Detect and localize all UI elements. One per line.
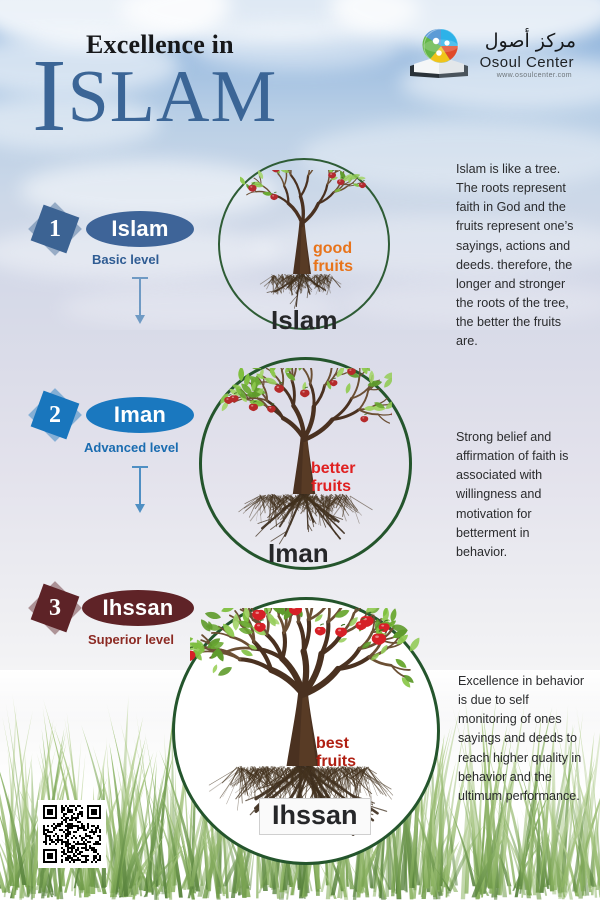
step-number-2: 2 [32, 392, 78, 438]
step-arrow-2 [139, 467, 141, 505]
title-islam-rest: SLAM [68, 56, 278, 138]
step-pill-ihssan[interactable]: Ihssan [82, 590, 194, 626]
step-pill-islam[interactable]: Islam [86, 211, 194, 247]
description-islam: Islam is like a tree. The roots represen… [456, 160, 584, 351]
step-pill-label-2: Iman [114, 402, 166, 428]
osoul-center-logo[interactable]: مركز أصول Osoul Center www.osoulcenter.c… [412, 24, 582, 86]
description-ihssan: Excellence in behavior is due to self mo… [458, 672, 586, 806]
qr-code[interactable] [38, 800, 106, 868]
tree-label-ihssan: Ihssan [259, 798, 371, 835]
step-number-1: 1 [32, 206, 78, 252]
globe-book-icon [406, 26, 476, 84]
poster-root: Excellence in ISLAM مركز أصول Osoul Cent… [0, 0, 600, 900]
step-number-3: 3 [32, 585, 78, 631]
step-pill-iman[interactable]: Iman [86, 397, 194, 433]
step-level-3: Superior level [88, 632, 174, 647]
step-arrow-1 [139, 278, 141, 316]
fruit-note-islam: good fruits [313, 240, 353, 277]
step-badge-2: 2 [32, 392, 78, 438]
step-badge-1: 1 [32, 206, 78, 252]
description-iman: Strong belief and affirmation of faith i… [456, 428, 584, 562]
tree-label-islam: Islam [271, 305, 338, 336]
step-pill-label-1: Islam [111, 216, 168, 242]
logo-arabic-text: مركز أصول [485, 30, 576, 52]
step-pill-label-3: Ihssan [103, 595, 174, 621]
logo-name: Osoul Center [480, 54, 574, 71]
logo-url: www.osoulcenter.com [497, 72, 572, 79]
step-level-1: Basic level [92, 252, 159, 267]
fruit-note-ihssan: best fruits [316, 735, 356, 772]
tree-graphic-iman [220, 368, 392, 554]
fruit-note-iman: better fruits [311, 460, 355, 497]
title-islam: ISLAM [32, 44, 277, 148]
step-level-2: Advanced level [84, 440, 179, 455]
step-badge-3: 3 [32, 585, 78, 631]
title-islam-initial: I [32, 38, 68, 153]
tree-label-iman: Iman [268, 538, 329, 569]
